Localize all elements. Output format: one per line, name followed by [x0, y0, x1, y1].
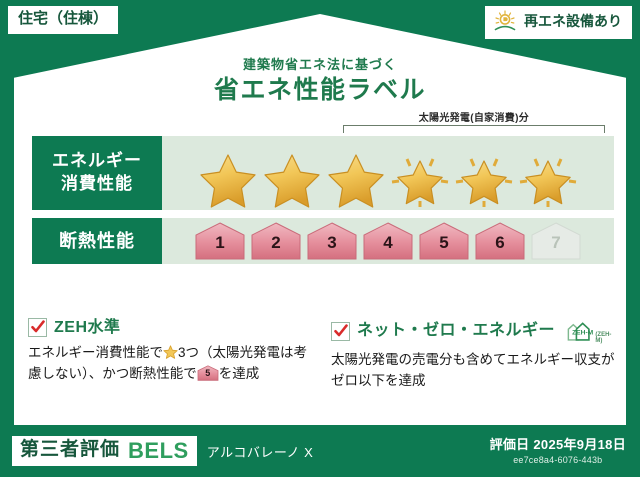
feature-columns: ZEH水準 エネルギー消費性能で3つ（太陽光発電は考慮しない）、かつ断熱性能で5… [28, 318, 616, 392]
insulation-badge-3: 3 [306, 222, 358, 260]
feature-nze-title: ネット・ゼロ・エネルギー [357, 322, 555, 340]
rating-rows: エネルギー 消費性能 太陽光発電(自家消費)分 [32, 136, 614, 272]
insulation-badge-1-value: 1 [194, 234, 246, 251]
feature-nze-desc-part1: 太陽光発電の売電分も含めてエネルギー収支がゼロ以下を達成 [331, 352, 615, 388]
feature-zeh-title: ZEH水準 [54, 319, 121, 337]
renewable-equipment-chip: 再エネ設備あり [485, 6, 632, 39]
insulation-badge-4-value: 4 [362, 234, 414, 251]
building-type-chip: 住宅（住棟） [8, 6, 118, 34]
feature-zeh-header: ZEH水準 [28, 318, 313, 337]
insulation-badge-5: 5 [418, 222, 470, 260]
zeh-m-logo-icon: ZEH-M (ZEH-M) [563, 318, 616, 344]
star-4-solar [389, 150, 451, 208]
insulation-performance-row: 断熱性能 1 2 [32, 218, 614, 264]
evaluation-info: 評価日 2025年9月18日 ee7ce8a4-6076-443b [490, 437, 626, 465]
energy-label-line2: 消費性能 [61, 173, 133, 196]
insulation-badges-area: 1 2 3 4 5 [162, 218, 614, 264]
title-main: 省エネ性能ラベル [0, 75, 640, 106]
bels-chip: 第三者評価 BELS [12, 436, 197, 466]
feature-zeh-description: エネルギー消費性能で3つ（太陽光発電は考慮しない）、かつ断熱性能で5を達成 [28, 343, 313, 385]
zeh-m-logo-caption: (ZEH-M) [595, 332, 616, 344]
renewable-chip-label: 再エネ設備あり [524, 14, 622, 29]
energy-performance-row: エネルギー 消費性能 太陽光発電(自家消費)分 [32, 136, 614, 210]
insulation-badge-3-value: 3 [306, 234, 358, 251]
label-title: 建築物省エネ法に基づく 省エネ性能ラベル [0, 57, 640, 106]
energy-stars-area: 太陽光発電(自家消費)分 [162, 136, 614, 210]
star-5-solar [453, 150, 515, 208]
feature-zeh-desc-part1: エネルギー消費性能で [28, 345, 163, 360]
insulation-badge-4: 4 [362, 222, 414, 260]
feature-nze-header: ネット・ゼロ・エネルギー ZEH-M (ZEH-M) [331, 318, 616, 344]
title-subtitle: 建築物省エネ法に基づく [0, 57, 640, 73]
insulation-performance-label: 断熱性能 [32, 218, 162, 264]
insulation-badge-6: 6 [474, 222, 526, 260]
star-1 [197, 150, 259, 208]
insulation-badge-6-value: 6 [474, 234, 526, 251]
star-6-solar [517, 150, 579, 208]
insulation-badge-5-value: 5 [418, 234, 470, 251]
building-name: アルコバレーノ X [207, 442, 314, 461]
feature-zeh-desc-part3: を達成 [219, 366, 260, 381]
insulation-badge-2: 2 [250, 222, 302, 260]
star-rating [197, 150, 579, 208]
insulation-grade-inline-badge: 5 [197, 365, 219, 381]
sun-icon [492, 10, 518, 34]
insulation-badge-7-value: 7 [530, 234, 582, 251]
insulation-badge-1: 1 [194, 222, 246, 260]
energy-label-line1: エネルギー [52, 150, 142, 173]
evaluation-date: 評価日 2025年9月18日 [490, 437, 626, 453]
feature-zeh-standard: ZEH水準 エネルギー消費性能で3つ（太陽光発電は考慮しない）、かつ断熱性能で5… [28, 318, 313, 392]
check-icon [28, 318, 47, 337]
label-footer: 第三者評価 BELS アルコバレーノ X 評価日 2025年9月18日 ee7c… [0, 425, 640, 477]
check-icon [331, 322, 350, 341]
star-2 [261, 150, 323, 208]
bels-jp-label: 第三者評価 [20, 440, 120, 461]
svg-text:ZEH-M: ZEH-M [572, 330, 593, 337]
energy-performance-label: 住宅（住棟） 再エネ設備あり 建築物省エネ法に基づく [0, 0, 640, 477]
energy-performance-label: エネルギー 消費性能 [32, 136, 162, 210]
star-icon [163, 345, 178, 359]
star-3 [325, 150, 387, 208]
feature-net-zero-energy: ネット・ゼロ・エネルギー ZEH-M (ZEH-M) 太陽光発電の売電分も含めて… [331, 318, 616, 392]
bels-en-label: BELS [128, 439, 189, 462]
evaluation-id: ee7ce8a4-6076-443b [490, 455, 626, 465]
insulation-grade-scale: 1 2 3 4 5 [194, 222, 582, 260]
insulation-badge-2-value: 2 [250, 234, 302, 251]
feature-nze-description: 太陽光発電の売電分も含めてエネルギー収支がゼロ以下を達成 [331, 350, 616, 392]
inline-badge-value: 5 [197, 369, 219, 378]
insulation-badge-7: 7 [530, 222, 582, 260]
